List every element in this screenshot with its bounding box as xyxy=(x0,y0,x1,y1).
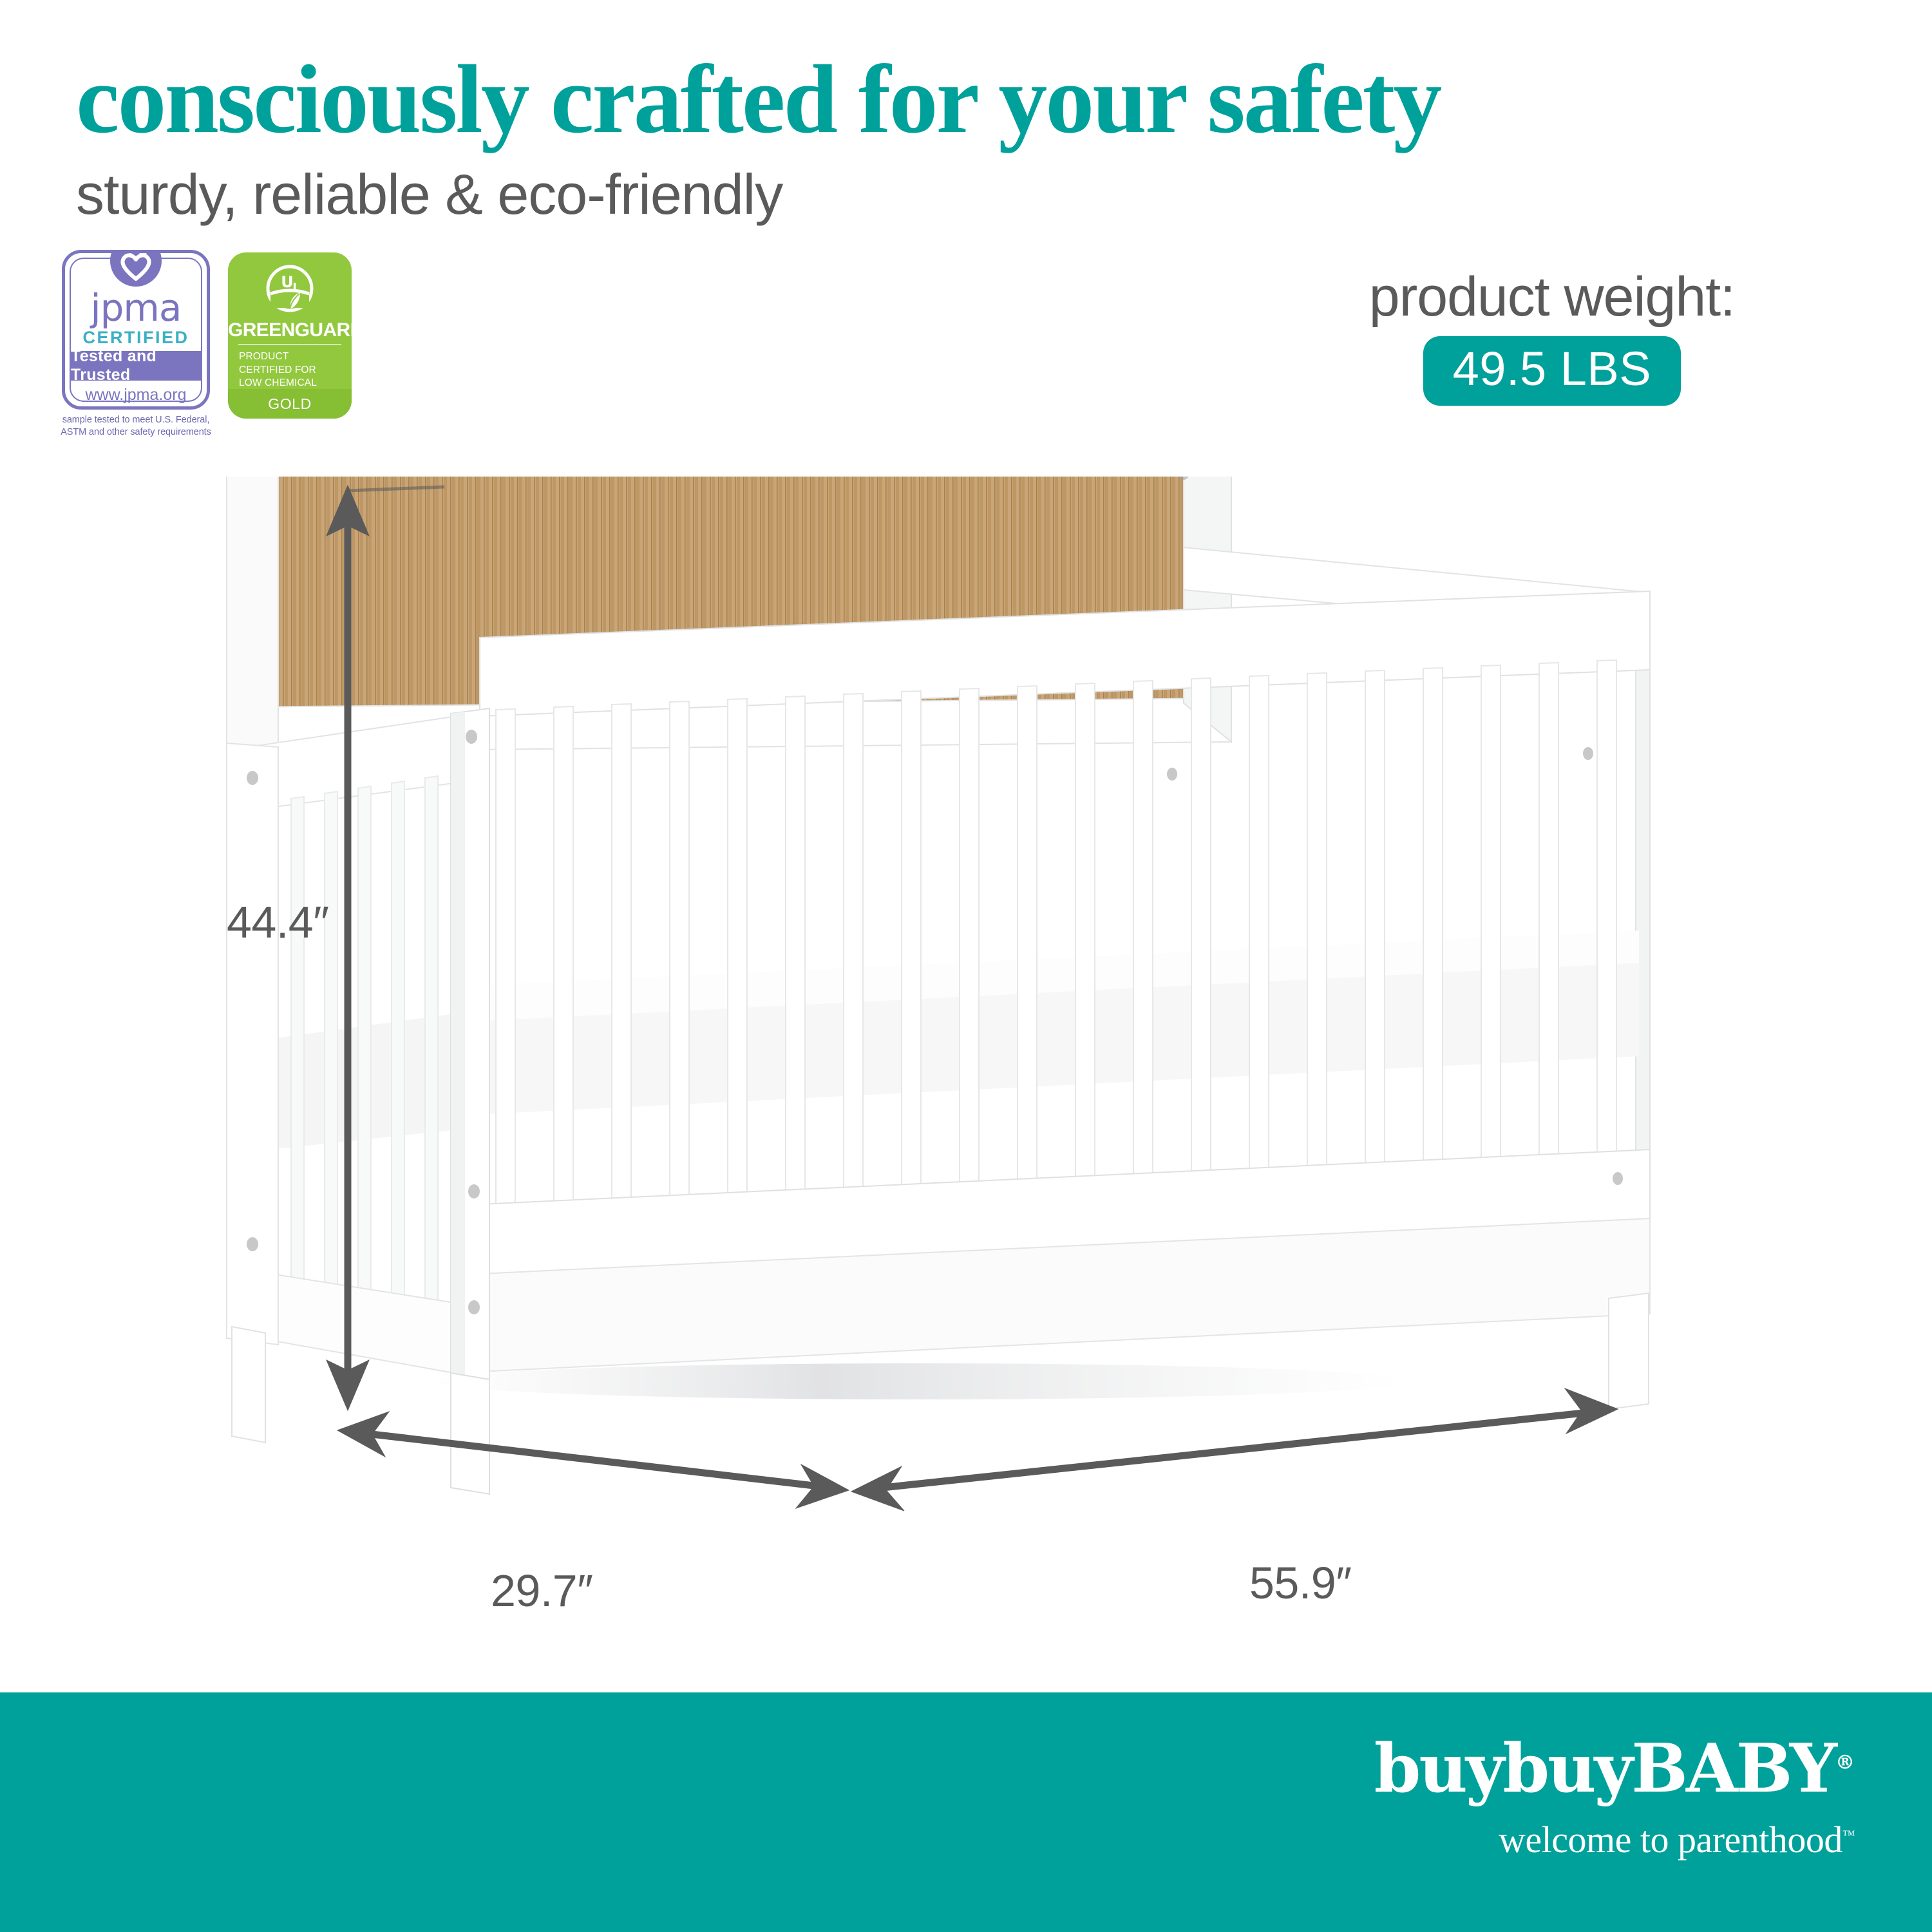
jpma-card: jpma CERTIFIED Tested and Trusted www.jp… xyxy=(62,250,210,410)
greenguard-gold-badge: U L GREENGUARD PRODUCT CERTIFIED FOR LOW… xyxy=(228,252,352,419)
greenguard-level-bar: GOLD xyxy=(228,389,352,419)
jpma-url: www.jpma.org xyxy=(65,386,207,404)
ul-leaf-icon: U L xyxy=(264,263,316,314)
jpma-certified-badge: jpma CERTIFIED Tested and Trusted www.jp… xyxy=(62,250,210,438)
jpma-fineprint: sample tested to meet U.S. Federal, ASTM… xyxy=(59,414,213,438)
greenguard-line-1: PRODUCT CERTIFIED FOR xyxy=(239,350,344,377)
greenguard-title: GREENGUARD xyxy=(228,319,352,341)
tagline-text: welcome to parenthood xyxy=(1499,1819,1842,1861)
product-image-area xyxy=(0,477,1932,1694)
parent-child-heart-icon xyxy=(106,250,166,290)
brand-logo: buybuyBABY® welcome to parenthood™ xyxy=(1374,1735,1855,1859)
depth-arrow-line xyxy=(361,1433,831,1488)
dimension-arrows xyxy=(0,477,1932,1694)
header-section: consciously crafted for your safety stur… xyxy=(0,0,1932,489)
certification-badges: jpma CERTIFIED Tested and Trusted www.jp… xyxy=(62,250,352,438)
width-arrow-line xyxy=(871,1412,1596,1489)
footer-bar: buybuyBABY® welcome to parenthood™ xyxy=(0,1692,1932,1932)
jpma-tested-text: Tested and Trusted xyxy=(71,347,201,384)
jpma-certified-label: CERTIFIED xyxy=(65,328,207,348)
page-title: consciously crafted for your safety xyxy=(76,50,1440,148)
product-weight-block: product weight: 49.5 LBS xyxy=(1369,269,1735,406)
svg-text:U: U xyxy=(281,273,294,291)
jpma-wordmark: jpma xyxy=(65,289,207,327)
brand-text: buybuyBABY xyxy=(1374,1728,1835,1808)
brand-name: buybuyBABY® xyxy=(1374,1735,1855,1802)
product-weight-value: 49.5 LBS xyxy=(1453,342,1651,395)
product-weight-label: product weight: xyxy=(1369,269,1735,325)
registered-mark-icon: ® xyxy=(1835,1751,1855,1774)
dimension-width-label: 55.9″ xyxy=(1249,1557,1352,1609)
brand-tagline: welcome to parenthood™ xyxy=(1374,1821,1855,1859)
greenguard-divider xyxy=(238,344,341,345)
dimension-depth-label: 29.7″ xyxy=(491,1565,593,1616)
greenguard-level-text: GOLD xyxy=(268,395,312,413)
trademark-mark-icon: ™ xyxy=(1842,1828,1855,1842)
page-subtitle: sturdy, reliable & eco-friendly xyxy=(76,166,782,223)
jpma-tested-strip: Tested and Trusted xyxy=(71,351,201,381)
product-weight-pill: 49.5 LBS xyxy=(1423,336,1681,406)
dimension-height-label: 44.4″ xyxy=(227,896,329,948)
